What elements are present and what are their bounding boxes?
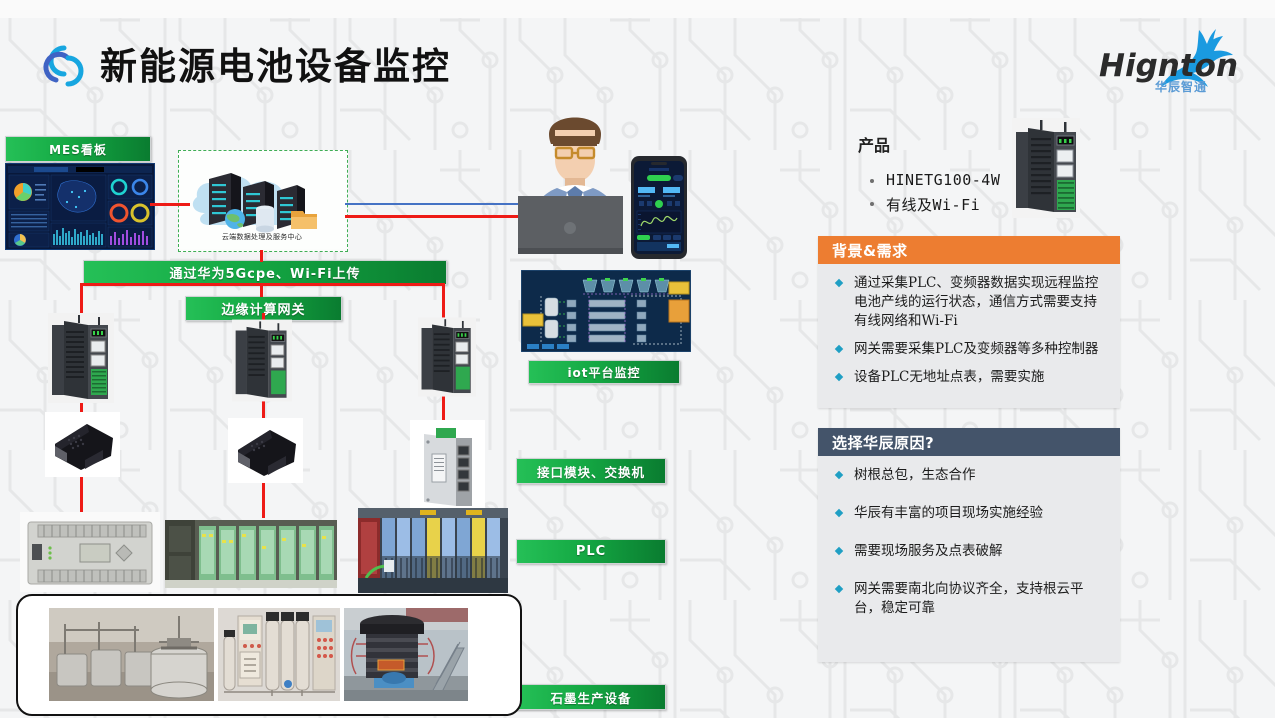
background-panel-item: 网关需要采集PLC及变频器等多种控制器 — [832, 340, 1104, 359]
label-mes-board-text: MES看板 — [49, 141, 107, 158]
background-panel-item: 设备PLC无地址点表，需要实施 — [832, 368, 1104, 387]
label-interface-switch-text: 接口模块、交换机 — [537, 462, 645, 481]
label-upload-text: 通过华为5Gcpe、Wi-Fi上传 — [169, 263, 360, 282]
reasons-panel-item: 需要现场服务及点表破解 — [832, 542, 1104, 561]
connector-bus-left-drop — [80, 283, 83, 313]
background-panel-header: 背景&需求 — [818, 236, 1120, 264]
gateway-device-1 — [48, 313, 114, 403]
interface-module-1 — [45, 412, 120, 477]
graphite-equipment-photo-frame — [16, 594, 522, 716]
plc-rack-dark — [165, 520, 337, 588]
label-interface-switch: 接口模块、交换机 — [516, 458, 666, 484]
gateway-device-3 — [418, 313, 476, 401]
reasons-panel-list: 树根总包，生态合作 华辰有丰富的项目现场实施经验 需要现场服务及点表破解 网关需… — [818, 456, 1120, 647]
interlocking-circles-logo-icon — [38, 40, 90, 92]
connector-cloud-down — [260, 250, 263, 262]
plc-compact — [20, 512, 160, 592]
label-plc-text: PLC — [576, 544, 606, 559]
industrial-ethernet-switch — [410, 420, 485, 510]
label-upload-5g-wifi: 通过华为5Gcpe、Wi-Fi上传 — [83, 260, 447, 285]
background-panel-title: 背景&需求 — [832, 240, 908, 261]
connector-cloud-to-laptop — [345, 203, 530, 205]
hignton-brand-logo: Hignton 华辰智通 — [1095, 24, 1245, 98]
label-graphite-equipment-text: 石墨生产设备 — [550, 688, 631, 707]
interface-module-2 — [228, 418, 303, 483]
mobile-dashboard-mockup — [631, 156, 687, 259]
connector-mes-to-cloud — [150, 203, 190, 206]
slide-header: 新能源电池设备监控 Hignton 华辰智通 — [0, 0, 1275, 112]
reasons-panel-item: 华辰有丰富的项目现场实施经验 — [832, 504, 1104, 523]
product-item: HINETG100-4W — [868, 171, 1118, 189]
mes-dashboard-thumbnail — [5, 163, 155, 250]
label-iot-platform: iot平台监控 — [528, 360, 680, 384]
reasons-panel-header: 选择华辰原因? — [818, 428, 1120, 456]
background-panel-item: 通过采集PLC、变频器数据实现远程监控电池产线的运行状态，通信方式需要支持有线网… — [832, 274, 1104, 331]
laptop-illustration — [518, 196, 623, 254]
scada-hmi-screen — [521, 270, 691, 352]
reasons-panel: 选择华辰原因? 树根总包，生态合作 华辰有丰富的项目现场实施经验 需要现场服务及… — [818, 428, 1120, 662]
cloud-caption: 云端数据处理及服务中心 — [178, 232, 346, 242]
connector-bus-horizontal — [80, 283, 445, 286]
product-item: 有线及Wi-Fi — [868, 194, 1118, 215]
reasons-panel-item: 网关需要南北向协议齐全，支持根云平台，稳定可靠 — [832, 580, 1104, 618]
reasons-panel-item: 树根总包，生态合作 — [832, 466, 1104, 485]
product-title: 产品 — [858, 132, 890, 156]
label-graphite-equipment: 石墨生产设备 — [516, 684, 666, 710]
reasons-panel-title: 选择华辰原因? — [832, 432, 934, 453]
label-mes-board: MES看板 — [5, 136, 151, 162]
product-device-image — [1012, 118, 1080, 218]
page-title: 新能源电池设备监控 — [100, 36, 451, 90]
gateway-device-2 — [232, 318, 292, 403]
label-iot-platform-text: iot平台监控 — [567, 364, 640, 381]
background-requirements-panel: 背景&需求 通过采集PLC、变频器数据实现远程监控电池产线的运行状态，通信方式需… — [818, 236, 1120, 408]
photo-water-treatment-skid — [218, 608, 340, 701]
brand-name: Hignton — [1099, 48, 1238, 84]
photo-reactor-tanks — [49, 608, 214, 701]
label-plc: PLC — [516, 539, 666, 564]
background-panel-list: 通过采集PLC、变频器数据实现远程监控电池产线的运行状态，通信方式需要支持有线网… — [818, 264, 1120, 406]
connector-bus-right-drop — [442, 283, 445, 313]
connector-cloud-to-laptop-red — [345, 215, 530, 218]
brand-subtitle: 华辰智通 — [1155, 79, 1207, 94]
plc-rack-blue — [358, 508, 508, 593]
photo-graphitization-furnace — [344, 608, 468, 701]
